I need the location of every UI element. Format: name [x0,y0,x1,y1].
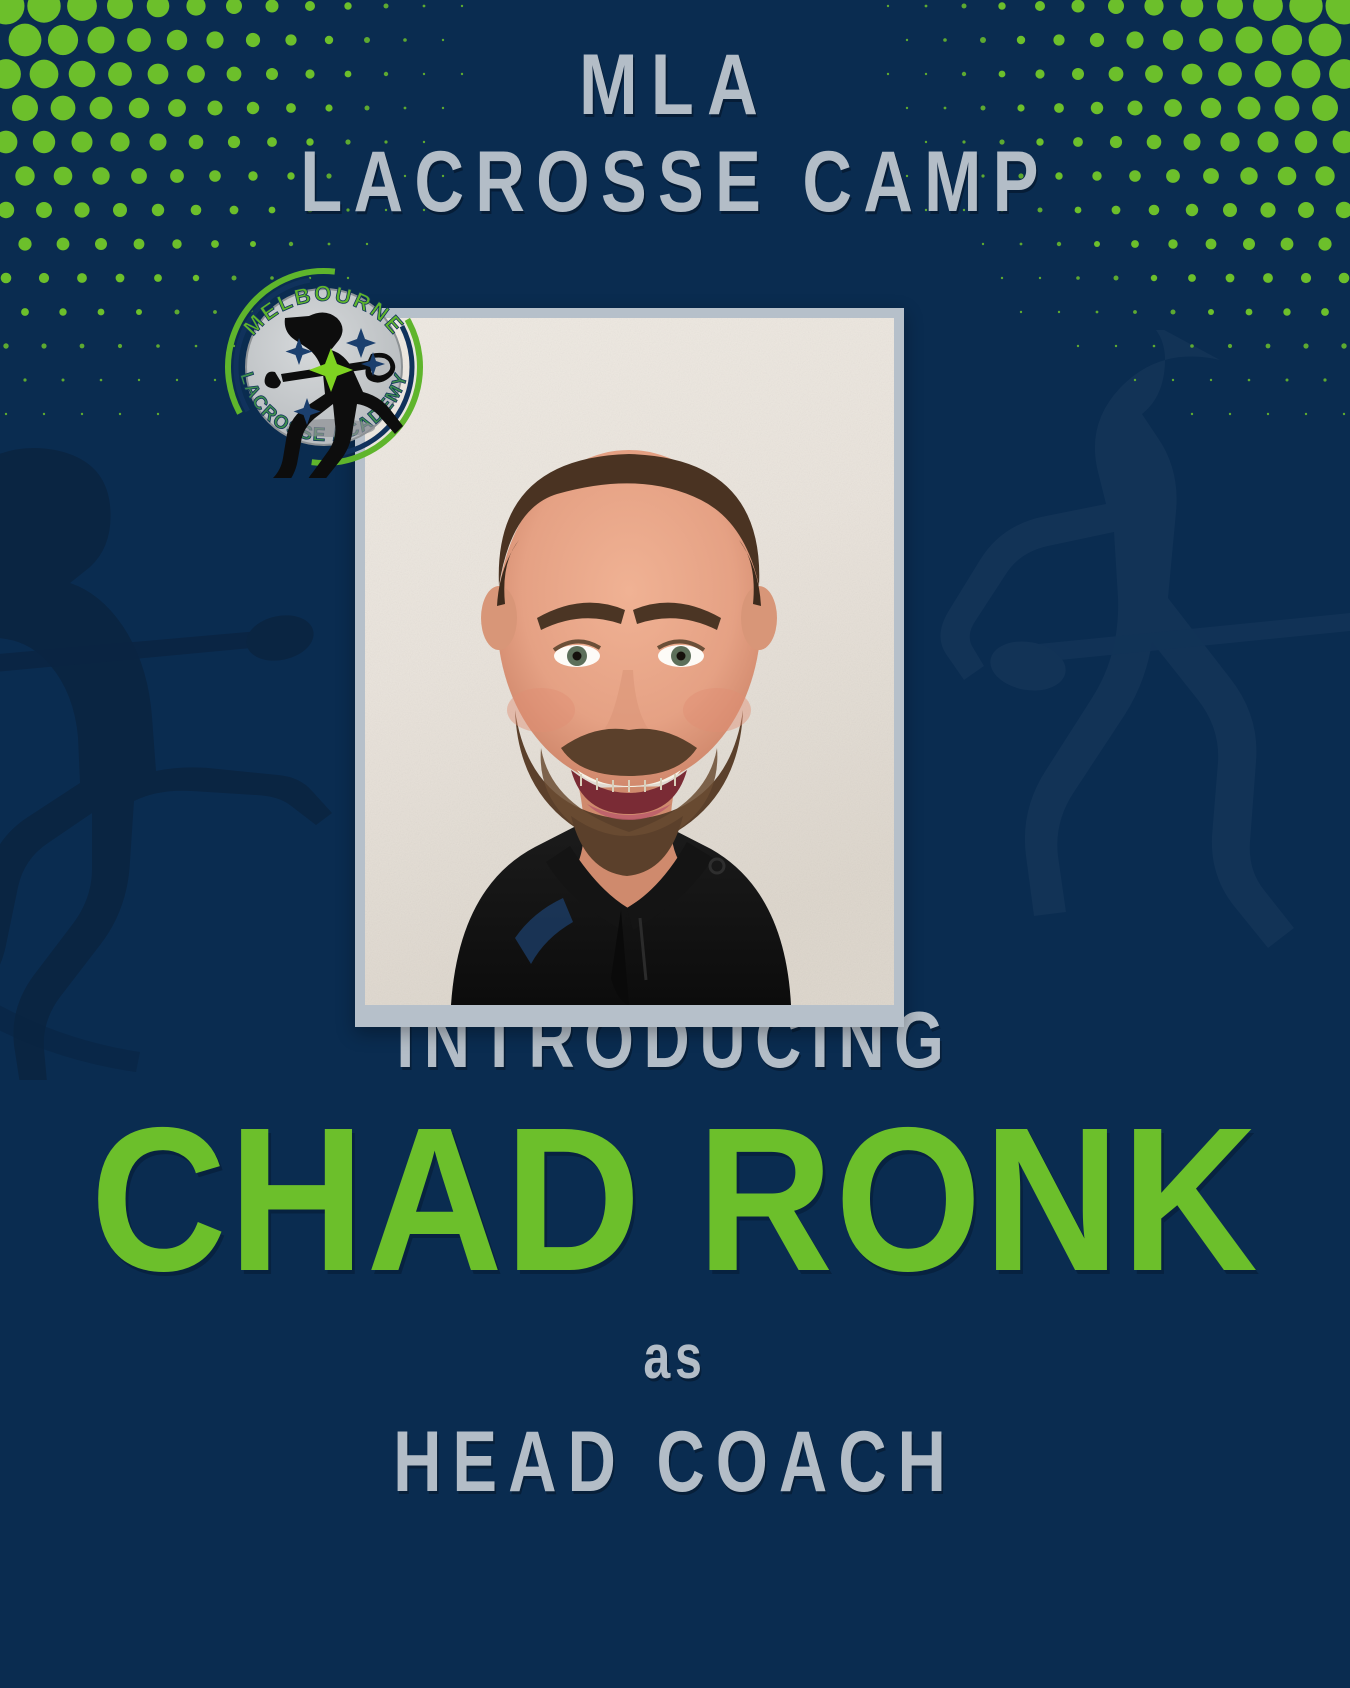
coach-portrait-illustration [365,318,894,1005]
poster-canvas: MLA LACROSSE CAMP [0,0,1350,1688]
title-line-lacrosse-camp: LACROSSE CAMP [135,141,1215,224]
coach-role: HEAD COACH [149,1419,1202,1505]
mla-logo-badge-icon: MELBOURNE LACROSSE ACADEMY [213,256,435,478]
title-line-mla: MLA [122,44,1229,127]
announcement-block: INTRODUCING CHAD RONK as HEAD COACH [0,1000,1350,1505]
coach-photo-frame [355,308,904,1027]
coach-photo [365,318,894,1005]
poster-heading: MLA LACROSSE CAMP [0,44,1350,223]
coach-name: CHAD RONK [54,1108,1296,1293]
as-label: as [149,1327,1202,1389]
